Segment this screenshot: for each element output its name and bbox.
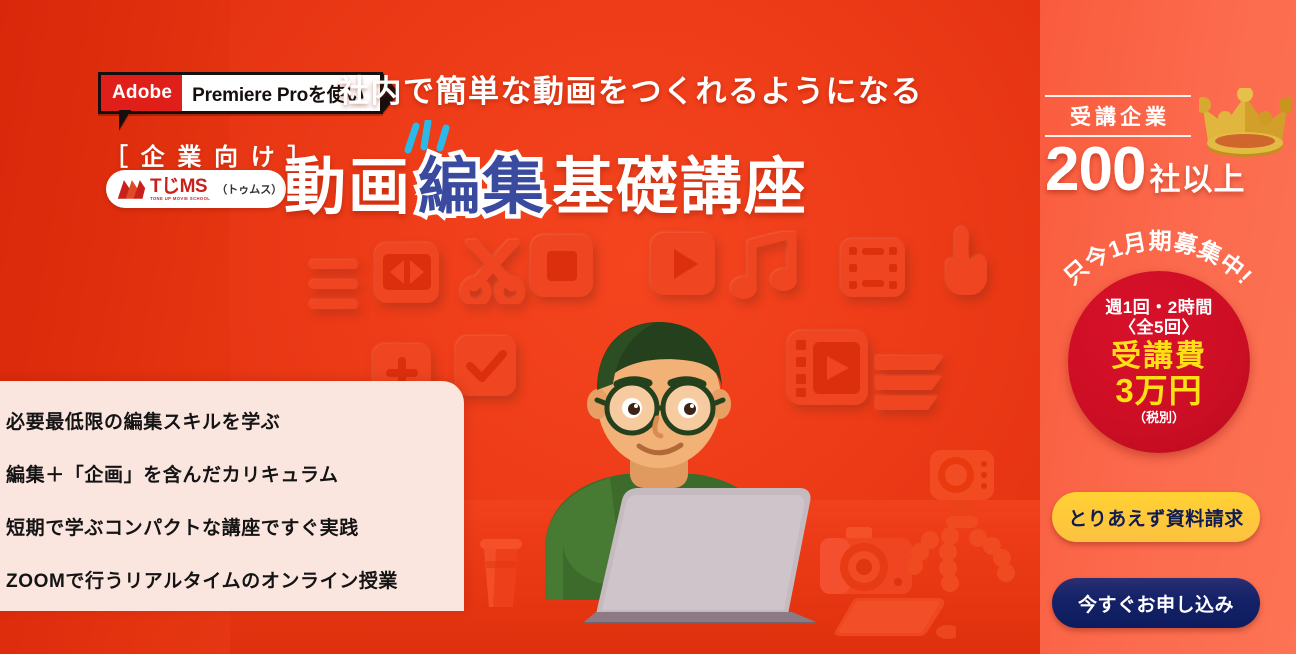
request-document-button[interactable]: とりあえず資料請求	[1052, 492, 1260, 542]
scissors-icon	[460, 240, 526, 304]
action-camera-tripod	[908, 448, 1018, 603]
title-part1: 動画	[284, 136, 412, 226]
feature-item-2: 編集＋「企画」を含んだカリキュラム	[6, 460, 464, 487]
title-part3: 基礎講座	[552, 136, 808, 226]
layers-icon	[872, 352, 948, 414]
play-button-icon	[650, 232, 716, 296]
stat-unit: 社以上	[1149, 154, 1245, 199]
stat-label-block: 受講企業	[1045, 95, 1191, 137]
stat-rule-top	[1045, 95, 1191, 97]
price-circle: 週1回・2時間 〈全5回〉 受講費 3万円 （税別）	[1068, 271, 1250, 453]
badge-brand: Adobe	[101, 75, 182, 111]
price-line-3: 受講費	[1111, 340, 1207, 374]
stat-rule-bottom	[1045, 135, 1191, 137]
apply-now-button[interactable]: 今すぐお申し込み	[1052, 578, 1260, 628]
tums-logo: TじMS TONE UP MOVIE SCHOOL （トゥムス）	[106, 170, 286, 208]
title-part2: 編集	[418, 136, 546, 226]
feature-item-4: ZOOMで行うリアルタイムのオンライン授業	[6, 566, 464, 593]
stop-square-icon	[530, 234, 594, 298]
corporate-tag: ［ 企 業 向 け ］	[104, 137, 314, 172]
price-line-1: 週1回・2時間	[1105, 298, 1212, 317]
hero-banner: Adobe Premiere Proを使い 社内で簡単な動画をつくれるようになる…	[0, 0, 1296, 654]
tums-logo-sub: TONE UP MOVIE SCHOOL	[150, 197, 210, 201]
tums-mark-icon	[116, 177, 146, 201]
headline: 社内で簡単な動画をつくれるようになる	[338, 66, 923, 111]
film-strip-icon	[840, 238, 906, 298]
tums-logo-main: TじMS	[150, 177, 210, 196]
feature-item-1: 必要最低限の編集スキルを学ぶ	[6, 407, 464, 434]
stat-number: 200	[1045, 139, 1145, 201]
camera	[818, 524, 918, 600]
price-line-2: 〈全5回〉	[1119, 318, 1199, 337]
price-line-5: （税別）	[1133, 411, 1185, 426]
stat-label: 受講企業	[1045, 97, 1191, 135]
laptop	[578, 484, 818, 624]
page-title: 動画 編集 基礎講座	[284, 136, 808, 226]
price-badge: 只今1月期募集中! 週1回・2時間 〈全5回〉 受講費 3万円 （税別）	[1044, 243, 1270, 469]
price-line-4: 3万円	[1115, 373, 1202, 410]
music-note-icon	[730, 232, 802, 302]
transition-icon	[374, 242, 440, 304]
pointing-hand-icon	[940, 225, 996, 297]
smartphone	[826, 596, 956, 640]
tums-logo-text: TじMS TONE UP MOVIE SCHOOL	[150, 177, 210, 202]
feature-panel: 必要最低限の編集スキルを学ぶ 編集＋「企画」を含んだカリキュラム 短期で学ぶコン…	[0, 381, 464, 611]
crown-icon	[1199, 88, 1291, 158]
feature-item-3: 短期で学ぶコンパクトな講座ですぐ実践	[6, 513, 464, 540]
badge-tail	[119, 110, 131, 130]
tums-logo-kana: （トゥムス）	[216, 181, 282, 197]
list-lines-icon	[308, 256, 360, 316]
company-count-stat: 受講企業 200 社以上	[1045, 95, 1285, 201]
